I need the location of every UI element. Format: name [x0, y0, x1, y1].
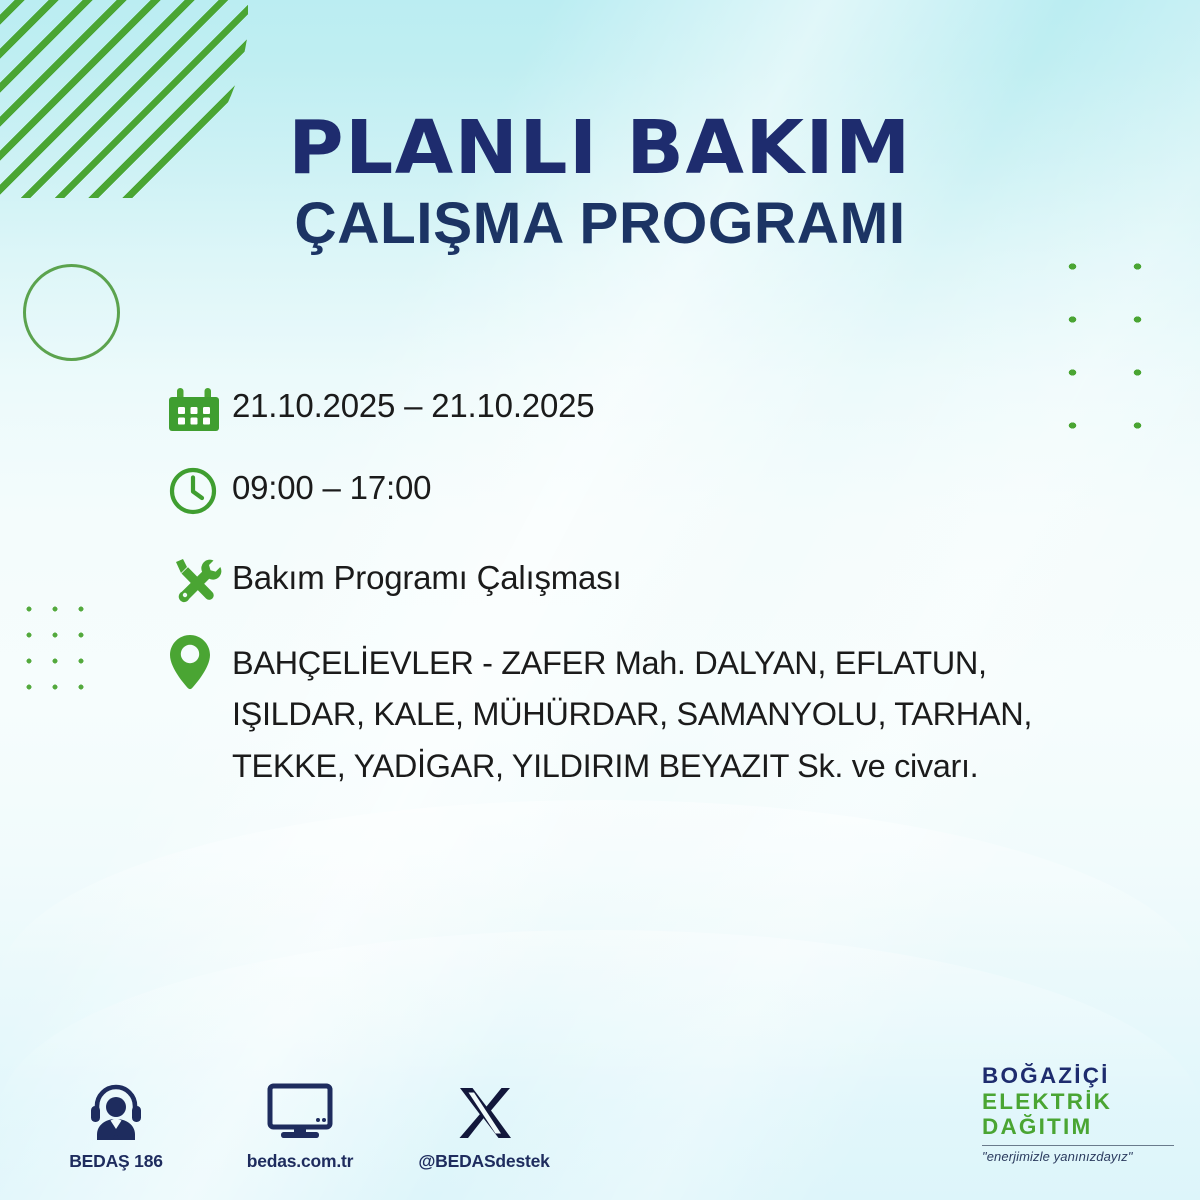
info-row-location: BAHÇELİEVLER - ZAFER Mah. DALYAN, EFLATU…	[168, 638, 1158, 792]
contact-website-label: bedas.com.tr	[230, 1151, 370, 1172]
tools-icon	[168, 550, 232, 612]
brand-tagline: "enerjimizle yanınızdayız"	[982, 1149, 1178, 1164]
brand-line-bogazici: BOĞAZİÇİ	[982, 1063, 1178, 1089]
date-range-value: 21.10.2025 – 21.10.2025	[232, 378, 594, 428]
brand-divider	[982, 1145, 1174, 1146]
footer-contacts: BEDAŞ 186 bedas.com.tr	[46, 1078, 554, 1172]
info-row-date: 21.10.2025 – 21.10.2025	[168, 378, 1158, 460]
title-line-2: ÇALIŞMA PROGRAMI	[0, 193, 1200, 254]
affected-area-value: BAHÇELİEVLER - ZAFER Mah. DALYAN, EFLATU…	[232, 638, 1032, 792]
contact-x-label: @BEDASdestek	[414, 1151, 554, 1172]
work-type-value: Bakım Programı Çalışması	[232, 550, 621, 600]
info-row-work-type: Bakım Programı Çalışması	[168, 550, 1158, 638]
page-title: PLANLI BAKIM ÇALIŞMA PROGRAMI	[0, 112, 1200, 254]
brand-line-elektrik: ELEKTRİK	[982, 1089, 1178, 1115]
info-rows: 21.10.2025 – 21.10.2025 09:00 – 17:00	[168, 378, 1158, 792]
info-row-time: 09:00 – 17:00	[168, 460, 1158, 550]
contact-website[interactable]: bedas.com.tr	[230, 1078, 370, 1172]
brand-line-dagitim: DAĞITIM	[982, 1114, 1178, 1140]
clock-icon	[168, 460, 232, 522]
x-logo-icon	[414, 1078, 554, 1142]
monitor-icon	[230, 1078, 370, 1142]
contact-phone[interactable]: BEDAŞ 186	[46, 1078, 186, 1172]
brand-logo: BOĞAZİÇİ ELEKTRİK DAĞITIM "enerjimizle y…	[982, 1063, 1178, 1164]
calendar-icon	[168, 378, 232, 440]
contact-x[interactable]: @BEDASdestek	[414, 1078, 554, 1172]
location-pin-icon	[168, 638, 232, 688]
title-line-1: PLANLI BAKIM	[0, 112, 1200, 185]
poster-canvas: PLANLI BAKIM ÇALIŞMA PROGRAMI	[0, 0, 1200, 1200]
headset-agent-icon	[46, 1078, 186, 1142]
contact-phone-label: BEDAŞ 186	[46, 1151, 186, 1172]
time-range-value: 09:00 – 17:00	[232, 460, 431, 510]
